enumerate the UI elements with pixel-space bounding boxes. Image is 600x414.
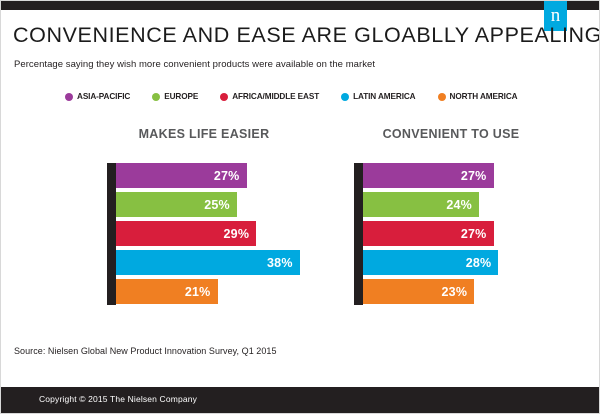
bar-value-label: 23% xyxy=(442,285,468,299)
axis-spine xyxy=(354,163,363,305)
legend-color-dot-icon xyxy=(341,93,349,101)
chart-title: CONVENIENT TO USE xyxy=(336,127,566,141)
bar-value-label: 25% xyxy=(204,198,230,212)
legend-item: EUROPE xyxy=(152,92,198,101)
bar-row: 28% xyxy=(363,250,566,275)
legend-item-label: LATIN AMERICA xyxy=(353,92,415,101)
legend-item: NORTH AMERICA xyxy=(438,92,518,101)
bar-value-label: 28% xyxy=(466,256,492,270)
copyright-text: Copyright © 2015 The Nielsen Company xyxy=(39,394,197,404)
chart-title: MAKES LIFE EASIER xyxy=(89,127,319,141)
legend-color-dot-icon xyxy=(438,93,446,101)
bar-row: 23% xyxy=(363,279,566,304)
legend-item: LATIN AMERICA xyxy=(341,92,415,101)
legend-color-dot-icon xyxy=(152,93,160,101)
legend-item-label: EUROPE xyxy=(164,92,198,101)
legend-item: AFRICA/MIDDLE EAST xyxy=(220,92,319,101)
bar-row: 25% xyxy=(116,192,319,217)
bar-series: 27%24%27%28%23% xyxy=(363,163,566,305)
bar-row: 24% xyxy=(363,192,566,217)
bar: 21% xyxy=(116,279,218,304)
bar: 27% xyxy=(116,163,247,188)
bar-row: 29% xyxy=(116,221,319,246)
bar: 24% xyxy=(363,192,479,217)
top-accent-bar xyxy=(1,1,600,10)
axis-spine xyxy=(107,163,116,305)
bar: 27% xyxy=(363,221,494,246)
chart-makes-life-easier: MAKES LIFE EASIER 27%25%29%38%21% xyxy=(89,127,319,312)
page-subtitle: Percentage saying they wish more conveni… xyxy=(14,59,375,70)
bar-row: 38% xyxy=(116,250,319,275)
bar: 29% xyxy=(116,221,256,246)
legend-item-label: AFRICA/MIDDLE EAST xyxy=(232,92,319,101)
bar-row: 27% xyxy=(363,221,566,246)
bar: 23% xyxy=(363,279,474,304)
legend-color-dot-icon xyxy=(65,93,73,101)
bar: 25% xyxy=(116,192,237,217)
bar: 38% xyxy=(116,250,300,275)
plot-area: 27%25%29%38%21% xyxy=(107,163,319,305)
chart-legend: ASIA-PACIFICEUROPEAFRICA/MIDDLE EASTLATI… xyxy=(65,92,518,101)
bar-value-label: 21% xyxy=(185,285,211,299)
bar-value-label: 27% xyxy=(461,169,487,183)
bar-row: 21% xyxy=(116,279,319,304)
bar: 28% xyxy=(363,250,498,275)
source-note: Source: Nielsen Global New Product Innov… xyxy=(14,346,277,356)
bar: 27% xyxy=(363,163,494,188)
bar-series: 27%25%29%38%21% xyxy=(116,163,319,305)
bar-value-label: 27% xyxy=(461,227,487,241)
bar-row: 27% xyxy=(363,163,566,188)
bar-value-label: 29% xyxy=(224,227,250,241)
footer-bar: Copyright © 2015 The Nielsen Company xyxy=(1,387,600,413)
bar-value-label: 38% xyxy=(267,256,293,270)
bar-value-label: 24% xyxy=(446,198,472,212)
legend-item-label: NORTH AMERICA xyxy=(450,92,518,101)
bar-row: 27% xyxy=(116,163,319,188)
legend-item: ASIA-PACIFIC xyxy=(65,92,130,101)
page-title: CONVENIENCE AND EASE ARE GLOABLLY APPEAL… xyxy=(13,23,600,48)
legend-item-label: ASIA-PACIFIC xyxy=(77,92,130,101)
legend-color-dot-icon xyxy=(220,93,228,101)
plot-area: 27%24%27%28%23% xyxy=(354,163,566,305)
infographic-page: n CONVENIENCE AND EASE ARE GLOABLLY APPE… xyxy=(0,0,600,414)
bar-value-label: 27% xyxy=(214,169,240,183)
chart-convenient-to-use: CONVENIENT TO USE 27%24%27%28%23% xyxy=(336,127,566,312)
